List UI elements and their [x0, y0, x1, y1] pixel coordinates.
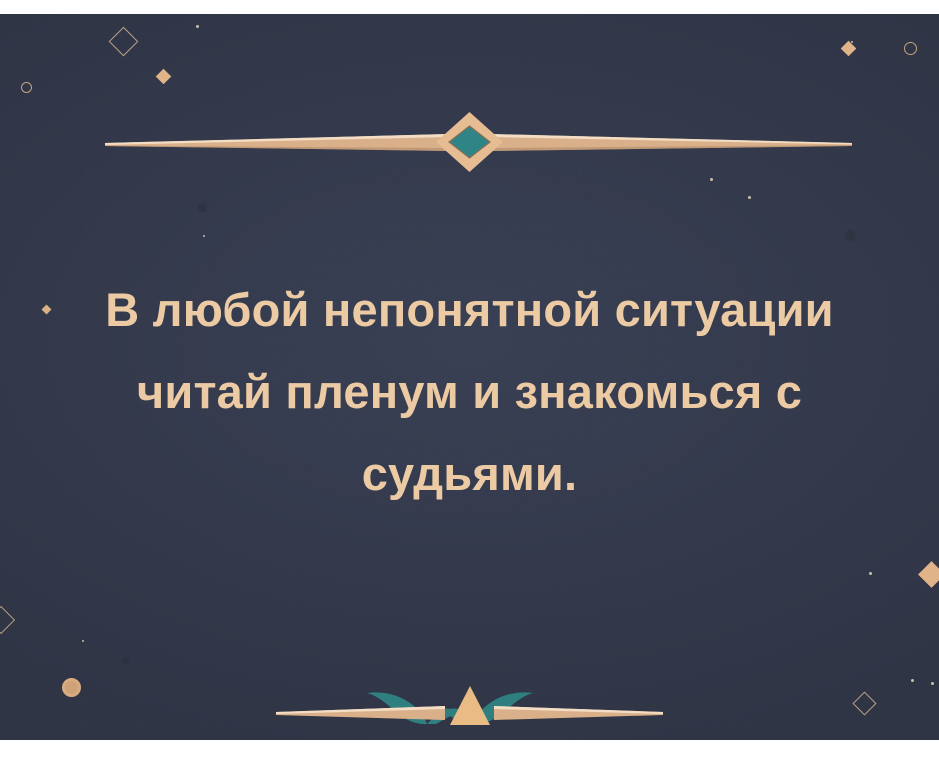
dot-left-mid [203, 235, 205, 237]
circle-outline-top-left [21, 82, 32, 93]
dot-bottom-right-3 [931, 682, 934, 685]
smudge-right-mid [845, 230, 856, 241]
dot-left-lower [82, 640, 84, 642]
card-panel: В любой непонятной ситуации читай пленум… [0, 14, 939, 740]
frame-strip-top [0, 0, 939, 14]
lotus-petal-gold [450, 686, 490, 725]
quote-card: В любой непонятной ситуации читай пленум… [0, 0, 939, 768]
smudge-left-low [122, 657, 130, 665]
dot-bottom-right [869, 572, 872, 575]
quote-text: В любой непонятной ситуации читай пленум… [0, 269, 939, 515]
ornament-top-svg [0, 104, 939, 174]
ring-bottom-left [62, 678, 81, 697]
diamond-outline-left-edge [0, 606, 15, 634]
diamond-filled-top-left [156, 69, 172, 85]
ornament-bottom-lotus-divider [0, 679, 939, 739]
frame-strip-bottom [0, 740, 939, 768]
smudge-left-mid [198, 203, 207, 212]
dot-right-upper [710, 178, 713, 181]
dot-top-center [196, 25, 199, 28]
diamond-filled-top-right [841, 41, 857, 57]
ornament-top-diamond-divider [0, 104, 939, 174]
diamond-filled-bottom-right [918, 561, 939, 588]
diamond-outline-top-left [109, 27, 139, 57]
circle-outline-top-right [904, 42, 917, 55]
dot-right-upper-2 [748, 196, 751, 199]
dot-bottom-right-2 [911, 679, 914, 682]
ornament-bottom-svg [0, 679, 939, 739]
